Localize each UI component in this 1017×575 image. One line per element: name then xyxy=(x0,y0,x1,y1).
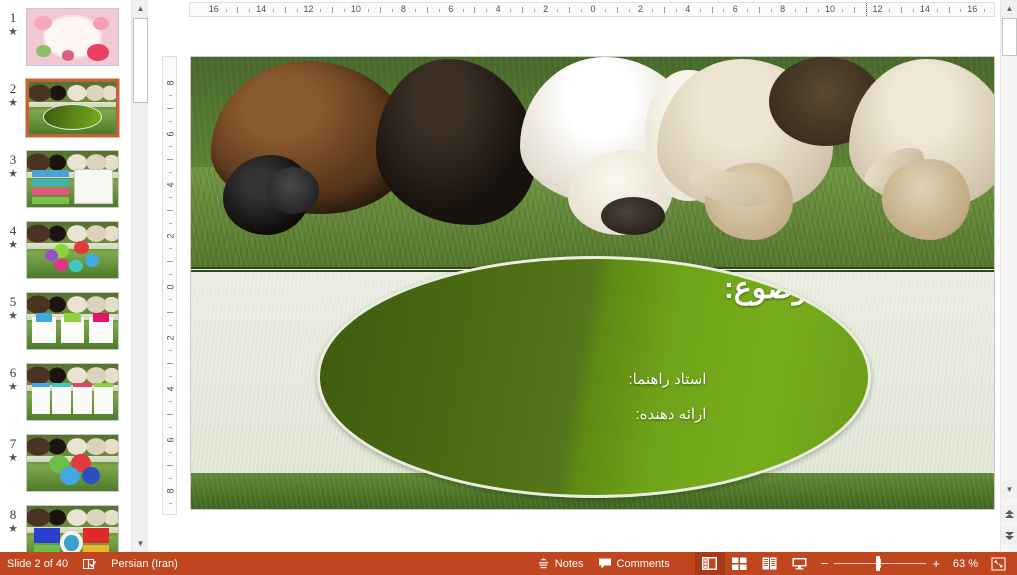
ruler-h-tick xyxy=(368,9,369,12)
ruler-v-tick xyxy=(169,197,172,198)
ruler-v-tick xyxy=(167,210,173,211)
animation-star-icon: ★ xyxy=(8,168,18,180)
ruler-h-label: 2 xyxy=(543,4,548,14)
ruler-h-tick xyxy=(664,7,665,13)
zoom-control[interactable]: − + xyxy=(815,552,946,575)
normal-view-icon xyxy=(701,556,718,571)
language-label: Persian (Iran) xyxy=(111,558,178,570)
proofing-status-button[interactable] xyxy=(75,552,104,575)
ruler-h-tick xyxy=(771,9,772,12)
thumbnail-image[interactable] xyxy=(26,505,119,552)
supervisor-text[interactable]: استاد راهنما: xyxy=(629,370,707,388)
animation-star-icon: ★ xyxy=(8,26,18,38)
previous-slide-button[interactable] xyxy=(1001,505,1017,522)
ruler-h-label: 16 xyxy=(967,4,977,14)
ruler-h-label: 2 xyxy=(638,4,643,14)
ruler-v-label: 4 xyxy=(166,178,176,191)
ruler-v-tick xyxy=(167,261,173,262)
reading-view-button[interactable] xyxy=(755,552,785,575)
ruler-h-label: 4 xyxy=(685,4,690,14)
ruler-h-label: 10 xyxy=(825,4,835,14)
ruler-h-tick xyxy=(581,9,582,12)
slide-number: 4 xyxy=(10,223,17,238)
ruler-h-label: 0 xyxy=(590,4,595,14)
slide-thumbnail-7[interactable]: 7 ★ xyxy=(0,434,131,505)
ruler-h-label: 10 xyxy=(351,4,361,14)
ruler-h-tick xyxy=(949,7,950,13)
ruler-h-tick xyxy=(474,7,475,13)
ruler-v-tick xyxy=(169,274,172,275)
ruler-h-tick xyxy=(889,9,890,12)
ruler-h-tick xyxy=(700,9,701,12)
thumbnail-pane-scrollbar[interactable]: ▲ ▼ xyxy=(131,0,148,552)
slide-scroll-down-button[interactable]: ▼ xyxy=(1001,481,1017,498)
ruler-h-indent-marker[interactable] xyxy=(866,3,867,17)
triangle-up-icon: ▲ xyxy=(137,5,145,13)
ruler-v-label: 6 xyxy=(166,433,176,446)
ruler-h-label: 16 xyxy=(209,4,219,14)
ruler-h-label: 6 xyxy=(448,4,453,14)
ruler-h-tick xyxy=(297,9,298,12)
thumbnail-image[interactable] xyxy=(26,150,119,208)
thumbnail-meta: 5 ★ xyxy=(0,292,26,322)
thumbnail-image[interactable] xyxy=(26,221,119,279)
sheep-photo-background xyxy=(191,57,994,269)
ruler-v-label: 8 xyxy=(166,76,176,89)
slide-number: 7 xyxy=(10,436,17,451)
ruler-h-tick xyxy=(605,9,606,12)
animation-star-icon: ★ xyxy=(8,452,18,464)
slide-scrollbar-thumb[interactable] xyxy=(1002,18,1017,56)
normal-view-button[interactable] xyxy=(695,552,725,575)
ruler-v-tick xyxy=(167,312,173,313)
ruler-v-tick xyxy=(169,452,172,453)
ruler-v-tick xyxy=(167,159,173,160)
ruler-h-tick xyxy=(427,7,428,13)
ruler-h-tick xyxy=(818,9,819,12)
ruler-h-tick xyxy=(226,9,227,12)
triangle-up-icon: ▲ xyxy=(1006,5,1014,13)
next-slide-button[interactable] xyxy=(1001,527,1017,544)
ruler-h-tick xyxy=(676,9,677,12)
thumbnail-meta: 8 ★ xyxy=(0,505,26,535)
ruler-h-label: 14 xyxy=(256,4,266,14)
ruler-h-tick xyxy=(415,9,416,12)
ruler-h-tick xyxy=(486,9,487,12)
slide-canvas-area[interactable]: موضوع: استاد راهنما: ارائه دهنده: xyxy=(178,20,995,552)
zoom-slider[interactable] xyxy=(834,552,926,575)
fit-to-window-icon xyxy=(991,557,1006,571)
pane-splitter[interactable] xyxy=(148,0,153,552)
ruler-h-tick xyxy=(249,9,250,12)
ruler-h-label: 6 xyxy=(733,4,738,14)
ruler-v-tick xyxy=(167,108,173,109)
ruler-v-tick xyxy=(169,478,172,479)
slide-scroll-up-button[interactable]: ▲ xyxy=(1001,0,1017,17)
thumbnail-scroll-down-button[interactable]: ▼ xyxy=(132,535,149,552)
reading-view-icon xyxy=(761,556,778,571)
ruler-v-tick xyxy=(167,414,173,415)
thumbnail-meta: 3 ★ xyxy=(0,150,26,180)
slide-thumbnail-pane[interactable]: 1 ★ 2 ★ xyxy=(0,0,131,552)
thumbnail-scrollbar-thumb[interactable] xyxy=(133,18,148,103)
ruler-v-tick xyxy=(169,146,172,147)
ruler-v-label: 6 xyxy=(166,127,176,140)
animation-star-icon: ★ xyxy=(8,310,18,322)
slide-show-view-button[interactable] xyxy=(785,552,815,575)
ruler-h-tick xyxy=(569,7,570,13)
vertical-ruler[interactable]: 864202468 xyxy=(162,56,177,515)
ruler-h-label: 4 xyxy=(496,4,501,14)
thumbnail-meta: 2 ★ xyxy=(0,79,26,109)
ruler-h-label: 8 xyxy=(401,4,406,14)
slide-sorter-view-button[interactable] xyxy=(725,552,755,575)
powerpoint-window: 1 ★ 2 ★ xyxy=(0,0,1017,575)
ruler-h-tick xyxy=(344,9,345,12)
ruler-v-tick xyxy=(169,95,172,96)
comment-bubble-icon xyxy=(598,557,612,570)
notes-label: Notes xyxy=(555,558,584,570)
slide-number: 8 xyxy=(10,507,17,522)
thumbnail-image[interactable] xyxy=(26,8,119,66)
slide-number: 3 xyxy=(10,152,17,167)
ruler-v-tick xyxy=(167,465,173,466)
ruler-v-label: 2 xyxy=(166,331,176,344)
ruler-h-tick xyxy=(984,9,985,12)
animation-star-icon: ★ xyxy=(8,381,18,393)
zoom-level-button[interactable]: 63 % xyxy=(946,552,985,575)
ruler-h-tick xyxy=(937,9,938,12)
ruler-h-tick xyxy=(285,7,286,13)
comments-button[interactable]: Comments xyxy=(591,552,677,575)
zoom-out-button[interactable]: − xyxy=(821,557,829,570)
ruler-v-label: 8 xyxy=(166,484,176,497)
slide-number: 5 xyxy=(10,294,17,309)
ruler-v-tick xyxy=(169,401,172,402)
horizontal-ruler[interactable]: 1614121086420246810121416 xyxy=(189,2,995,17)
notes-button[interactable]: Notes xyxy=(530,552,591,575)
animation-star-icon: ★ xyxy=(8,97,18,109)
ruler-h-tick xyxy=(652,9,653,12)
ruler-h-tick xyxy=(332,7,333,13)
ruler-v-label: 2 xyxy=(166,229,176,242)
slide-number: 6 xyxy=(10,365,17,380)
ruler-v-tick xyxy=(167,363,173,364)
slide-thumbnail-5[interactable]: 5 ★ xyxy=(0,292,131,363)
ruler-v-label: 0 xyxy=(166,280,176,293)
slide-thumbnail-3[interactable]: 3 ★ xyxy=(0,150,131,221)
animation-star-icon: ★ xyxy=(8,239,18,251)
slide-thumbnail-2[interactable]: 2 ★ xyxy=(0,79,131,150)
double-down-arrow-icon xyxy=(1004,531,1015,541)
thumbnail-meta: 6 ★ xyxy=(0,363,26,393)
slideshow-screen-icon xyxy=(791,556,808,571)
double-up-arrow-icon xyxy=(1004,509,1015,519)
slide-counter[interactable]: Slide 2 of 40 xyxy=(0,552,75,575)
ruler-v-tick xyxy=(169,325,172,326)
animation-star-icon: ★ xyxy=(8,523,18,535)
ruler-h-tick xyxy=(712,7,713,13)
thumbnail-meta: 1 ★ xyxy=(0,8,26,38)
slide-thumbnail-4[interactable]: 4 ★ xyxy=(0,221,131,292)
ruler-h-tick xyxy=(439,9,440,12)
zoom-in-button[interactable]: + xyxy=(932,557,940,570)
slide-editing-surface[interactable]: موضوع: استاد راهنما: ارائه دهنده: xyxy=(191,57,994,509)
ruler-v-tick xyxy=(169,172,172,173)
slide-thumbnail-8[interactable]: 8 ★ xyxy=(0,505,131,552)
spellcheck-icon xyxy=(82,557,97,571)
triangle-down-icon: ▼ xyxy=(1006,486,1014,494)
ruler-h-tick xyxy=(806,7,807,13)
language-button[interactable]: Persian (Iran) xyxy=(104,552,185,575)
ruler-h-tick xyxy=(320,9,321,12)
ruler-h-tick xyxy=(747,9,748,12)
ruler-v-tick xyxy=(169,350,172,351)
ruler-v-tick xyxy=(169,223,172,224)
slide-counter-label: Slide 2 of 40 xyxy=(7,558,68,570)
ruler-h-tick xyxy=(273,9,274,12)
ruler-h-tick xyxy=(237,7,238,13)
slide-pane-scrollbar[interactable]: ▲ ▼ xyxy=(1000,0,1017,552)
ruler-h-tick xyxy=(617,7,618,13)
slide-number: 1 xyxy=(10,10,17,25)
ruler-h-tick xyxy=(795,9,796,12)
thumbnail-image[interactable] xyxy=(26,292,119,350)
notes-icon xyxy=(537,557,550,570)
presenter-text[interactable]: ارائه دهنده: xyxy=(635,405,706,423)
ruler-h-tick xyxy=(534,9,535,12)
thumbnail-image[interactable] xyxy=(26,363,119,421)
ruler-v-tick xyxy=(169,121,172,122)
status-bar: Slide 2 of 40 Persian (Iran) Notes xyxy=(0,552,1017,575)
ruler-h-label: 12 xyxy=(872,4,882,14)
slide-sorter-icon xyxy=(731,556,748,571)
comments-label: Comments xyxy=(617,558,670,570)
ruler-h-tick xyxy=(759,7,760,13)
ruler-h-tick xyxy=(629,9,630,12)
thumbnail-meta: 7 ★ xyxy=(0,434,26,464)
ruler-v-tick xyxy=(169,299,172,300)
ruler-h-label: 12 xyxy=(304,4,314,14)
subject-text[interactable]: موضوع: xyxy=(724,271,824,306)
thumbnail-meta: 4 ★ xyxy=(0,221,26,251)
ruler-h-tick xyxy=(723,9,724,12)
ruler-h-tick xyxy=(463,9,464,12)
ruler-v-tick xyxy=(169,503,172,504)
slide-thumbnail-6[interactable]: 6 ★ xyxy=(0,363,131,434)
ruler-h-tick xyxy=(901,7,902,13)
title-ellipse-shape[interactable]: موضوع: استاد راهنما: ارائه دهنده: xyxy=(317,256,871,498)
ruler-h-tick xyxy=(960,9,961,12)
ruler-v-tick xyxy=(169,427,172,428)
ruler-h-tick xyxy=(557,9,558,12)
ruler-h-tick xyxy=(854,7,855,13)
ruler-v-tick xyxy=(169,376,172,377)
ruler-h-tick xyxy=(380,7,381,13)
ruler-v-label: 4 xyxy=(166,382,176,395)
slide-number: 2 xyxy=(10,81,17,96)
slide-thumbnail-1[interactable]: 1 ★ xyxy=(0,8,131,79)
thumbnail-image[interactable] xyxy=(26,434,119,492)
ruler-h-tick xyxy=(510,9,511,12)
ruler-h-label: 14 xyxy=(920,4,930,14)
ruler-h-label: 8 xyxy=(780,4,785,14)
zoom-slider-handle[interactable] xyxy=(876,556,880,571)
ruler-h-tick xyxy=(913,9,914,12)
thumbnail-scroll-up-button[interactable]: ▲ xyxy=(132,0,149,17)
ruler-h-tick xyxy=(522,7,523,13)
triangle-down-icon: ▼ xyxy=(137,540,145,548)
ruler-h-tick xyxy=(392,9,393,12)
zoom-percent-label: 63 % xyxy=(953,558,978,570)
ruler-v-tick xyxy=(169,248,172,249)
fit-slide-to-window-button[interactable] xyxy=(985,552,1011,575)
ruler-h-tick xyxy=(842,9,843,12)
thumbnail-image[interactable] xyxy=(26,79,119,137)
